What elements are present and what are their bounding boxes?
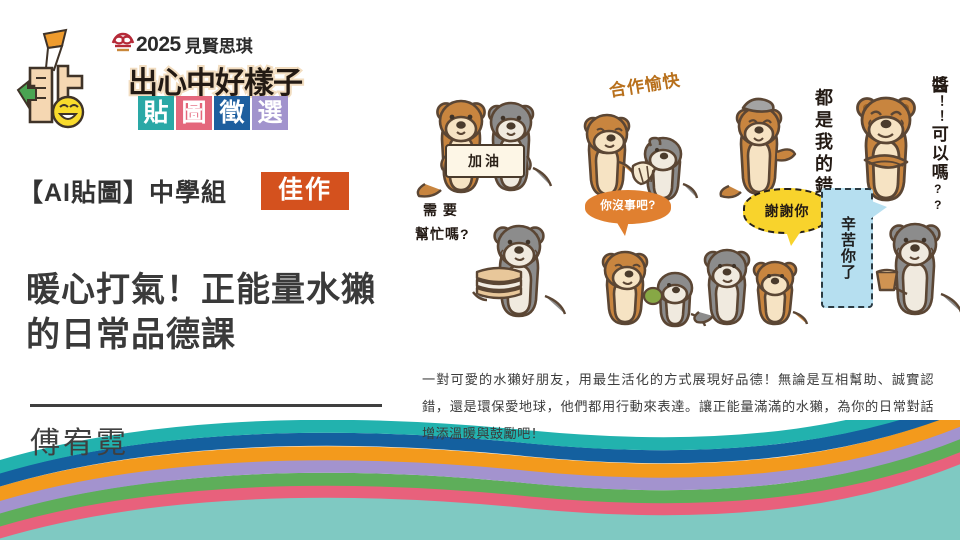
sticker-keyima-art [845,74,927,206]
cap-ch-1: 都 [813,88,833,110]
sticker-wodecuo-art [715,74,811,202]
logo-year-suffix: 見賢思琪 [185,32,253,57]
sticker-hezuo: 合作愉快 [567,76,707,200]
category-row: 【AI貼圖】中學組 佳作 [18,172,349,210]
title-divider [30,404,382,407]
sticker-jiayou-sign: 加油 [445,144,525,178]
sticker-xinku-text: 辛苦你了 [838,216,856,280]
sticker-jiayou-text: 加油 [468,151,502,171]
sticker-xinku-art [871,200,960,320]
sticker-keyima: 醬！！可以嗎?? [845,70,957,202]
work-description: 一對可愛的水獺好朋友，用最生活化的方式展現好品德！無論是互相幫助、誠實認錯，還是… [422,366,934,448]
sticker-xiexie-text: 謝謝你 [765,203,810,220]
smiley-face-icon [53,97,83,127]
megaphone-icon [44,30,66,70]
logo-year-line: 2025 見賢思琪 [136,32,253,57]
author-name: 傅宥霓 [30,418,129,462]
cap-ch-2: 是 [813,110,833,132]
cap-keyima: 可以嗎 [929,125,948,182]
cap-bangs: ！！ [931,95,946,125]
logo-box-tie: 貼 [138,96,174,130]
award-badge: 佳作 [261,172,349,210]
logo-box-tu: 圖 [176,96,212,130]
cap-jiang: 醬 [929,76,948,95]
poster-canvas: 2025 見賢思琪 出心中好樣子 貼 圖 徵 選 【AI貼圖】中學組 佳作 暖心… [0,0,960,540]
work-title: 暖心打氣！正能量水獺的日常品德課 [26,268,406,358]
sticker-jiayou-art [415,72,560,200]
sticker-wodecuo: 都是我的錯 [715,74,845,202]
sticker-bangmang-caption-2: 幫忙嗎? [415,226,470,243]
logo-year: 2025 [136,33,181,57]
sticker-xinku-bubble: 辛苦你了 [821,188,873,308]
sticker-jiayou: 加油 [415,72,560,200]
logo-call-boxes: 貼 圖 徵 選 [138,96,288,130]
sticker-meishiba-text: 你沒事吧? [600,200,656,214]
seal-stamp-icon [110,30,136,56]
logo-box-xuan: 選 [252,96,288,130]
sticker-wodecuo-caption: 都是我的錯 [811,88,833,198]
sticker-xinku: 辛苦你了 [821,188,960,324]
cap-ch-4: 的 [813,154,833,176]
sticker-bangmang: 需 要 幫忙嗎? [415,200,585,324]
sticker-xiexie-bubble: 謝謝你 [743,188,831,234]
logo-box-zheng: 徵 [214,96,250,130]
sticker-meishiba-bubble: 你沒事吧? [585,190,671,224]
competition-logo: 2025 見賢思琪 出心中好樣子 貼 圖 徵 選 [14,20,284,140]
sticker-bangmang-caption-1: 需 要 [423,202,458,219]
category-label: 【AI貼圖】中學組 [18,173,227,209]
sticker-mascot-icon [14,24,102,136]
sticker-preview-grid: 加油 合作愉快 [415,62,955,330]
cap-ch-3: 我 [813,132,833,154]
